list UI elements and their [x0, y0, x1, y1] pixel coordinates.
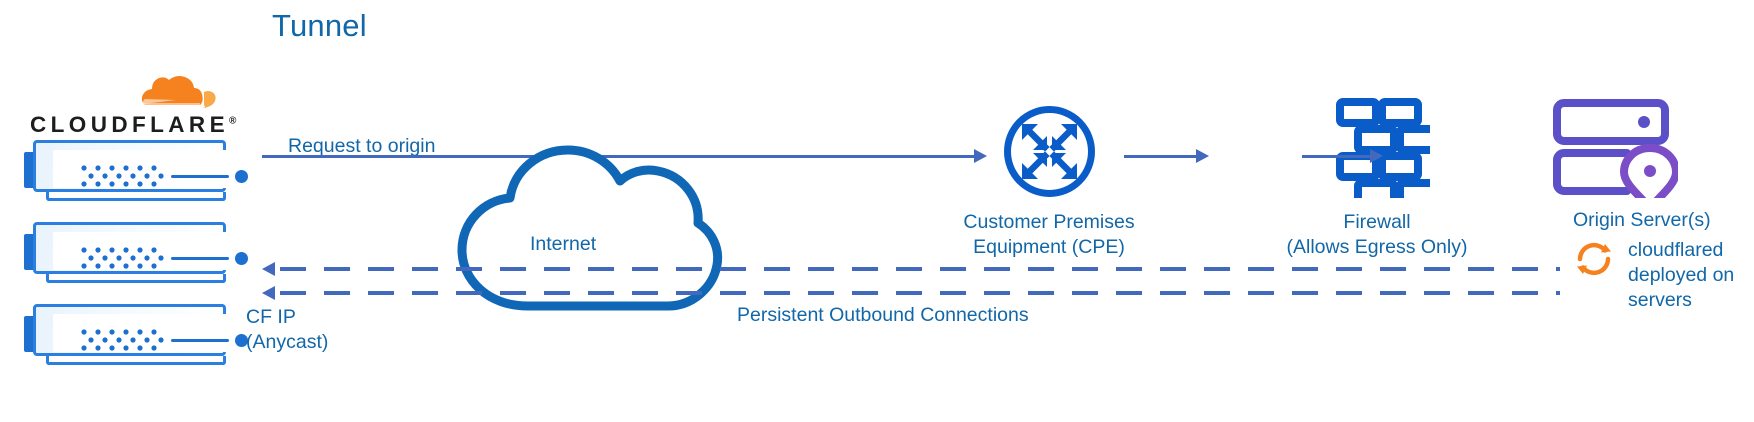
registered-trademark-symbol: ® — [229, 116, 236, 127]
cpe-to-firewall-line — [1124, 155, 1198, 158]
server-led-icon — [235, 252, 248, 265]
firewall-to-origin-arrowhead — [1370, 149, 1383, 163]
server-body — [33, 222, 226, 274]
server-face — [53, 150, 230, 188]
server-led-icon — [235, 170, 248, 183]
server-slot-line — [171, 175, 229, 178]
origin-server-label: Origin Server(s) — [1573, 208, 1711, 233]
cloudflared-note-line3: servers — [1628, 288, 1734, 313]
router-arrows-circle-icon — [1002, 104, 1097, 199]
diagram-canvas: Tunnel CLOUDFLARE® — [0, 0, 1754, 422]
firewall-to-origin-line — [1302, 155, 1372, 158]
persistent-connection-arrowhead-2 — [262, 286, 275, 300]
cf-ip-label-line2: (Anycast) — [246, 330, 328, 355]
firewall-label-line1: Firewall — [1148, 210, 1606, 235]
server-vents-icon — [81, 247, 165, 271]
cloudflared-note-line1: cloudflared — [1628, 238, 1734, 263]
server-vents-icon — [81, 329, 165, 353]
server-body — [33, 140, 226, 192]
persistent-connections-label: Persistent Outbound Connections — [731, 303, 1035, 328]
cloudflare-wordmark: CLOUDFLARE® — [30, 112, 236, 138]
cf-edge-server-1 — [24, 140, 228, 202]
cf-edge-server-3 — [24, 304, 228, 366]
cloudflared-note-line2: deployed on — [1628, 263, 1734, 288]
server-slot-line — [171, 339, 229, 342]
cloud-icon — [440, 138, 730, 314]
server-vents-icon — [81, 165, 165, 189]
persistent-connection-arrowhead-1 — [262, 262, 275, 276]
server-body — [33, 304, 226, 356]
cpe-label: Customer Premises Equipment (CPE) — [928, 210, 1170, 260]
persistent-connection-line-2 — [280, 291, 1560, 295]
server-slot-line — [171, 257, 229, 260]
server-face — [53, 314, 230, 352]
request-to-origin-arrowhead — [974, 149, 987, 163]
cf-ip-label: CF IP (Anycast) — [246, 305, 328, 355]
cpe-label-line2: Equipment (CPE) — [928, 235, 1170, 260]
server-face — [53, 232, 230, 270]
cloudflare-logo: CLOUDFLARE® — [30, 74, 226, 142]
cf-edge-server-2 — [24, 222, 228, 284]
cf-ip-label-line1: CF IP — [246, 305, 328, 330]
cloudflared-note: cloudflared deployed on servers — [1628, 238, 1734, 313]
circular-arrows-refresh-icon — [1573, 238, 1615, 280]
server-base — [46, 192, 226, 201]
server-rack-pin-icon — [1552, 98, 1678, 198]
server-base — [46, 274, 226, 283]
cpe-label-line1: Customer Premises — [928, 210, 1170, 235]
firewall-label: Firewall (Allows Egress Only) — [1148, 210, 1606, 260]
brick-wall-icon — [1334, 96, 1430, 198]
server-base — [46, 356, 226, 365]
cloudflare-wordmark-text: CLOUDFLARE — [30, 112, 229, 137]
persistent-connection-line-1 — [280, 267, 1560, 271]
cpe-to-firewall-arrowhead — [1196, 149, 1209, 163]
page-title: Tunnel — [272, 8, 367, 44]
firewall-label-line2: (Allows Egress Only) — [1148, 235, 1606, 260]
internet-label: Internet — [530, 232, 596, 257]
